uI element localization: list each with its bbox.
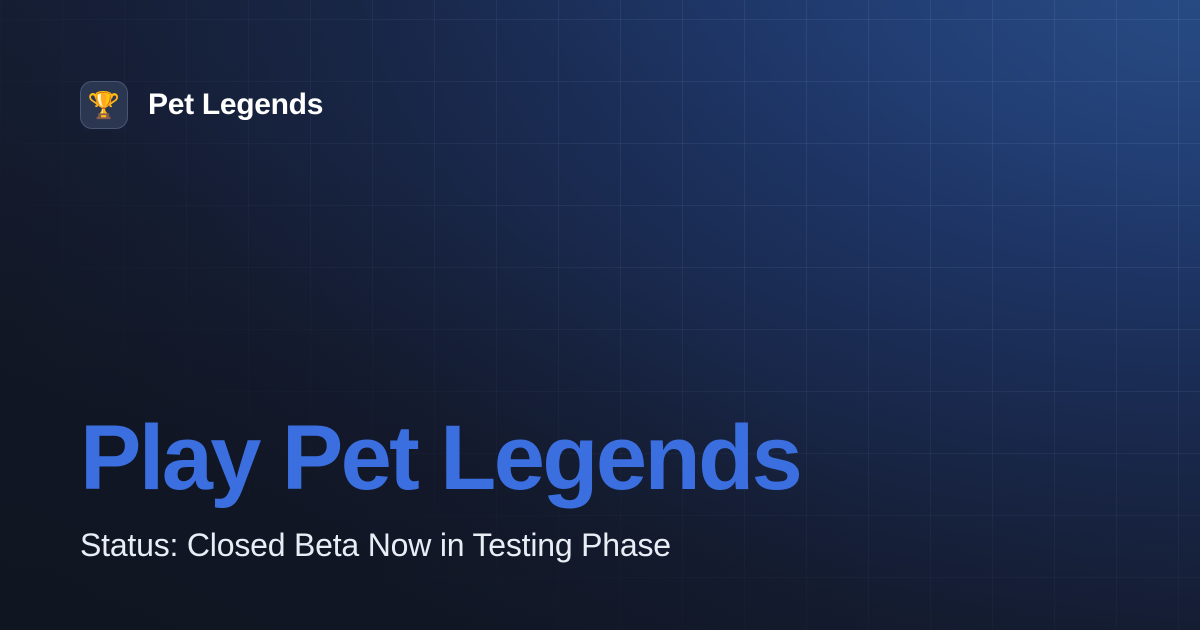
hero-section: Play Pet Legends Status: Closed Beta Now… (80, 412, 1120, 564)
status-subtitle: Status: Closed Beta Now in Testing Phase (80, 526, 1120, 564)
page-title: Play Pet Legends (80, 412, 1120, 504)
brand-header: 🏆 Pet Legends (80, 81, 323, 129)
og-preview-card: 🏆 Pet Legends Play Pet Legends Status: C… (0, 0, 1200, 630)
brand-name-label: Pet Legends (148, 88, 323, 122)
trophy-icon: 🏆 (88, 92, 120, 118)
brand-logo-badge: 🏆 (80, 81, 128, 129)
